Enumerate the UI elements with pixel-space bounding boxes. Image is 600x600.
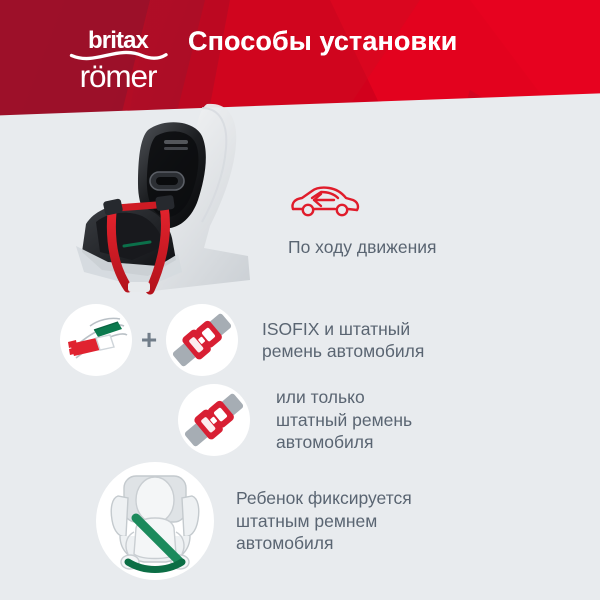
forward-facing-label: По ходу движения <box>288 237 578 259</box>
product-image <box>52 96 292 306</box>
row-child-belted-text: Ребенок фиксируется штатным ремнем автом… <box>236 487 412 554</box>
row-isofix-text: ISOFIX и штатный ремень автомобиля <box>262 318 424 363</box>
seatbelt-buckle-icon <box>166 304 238 376</box>
forward-facing-block: По ходу движения <box>288 183 578 259</box>
svg-text:römer: römer <box>80 58 157 92</box>
car-forward-icon <box>288 183 362 223</box>
row-isofix-icons: + <box>60 304 238 376</box>
brand-name-top: britax <box>58 92 59 93</box>
row-isofix: + ISOFIX и штатный ремень автомобиля <box>60 304 424 376</box>
row-belt-only-icons <box>178 384 250 456</box>
poster-stage: britax römer britax römer britax römer С… <box>0 0 600 600</box>
row-child-belted: Ребенок фиксируется штатным ремнем автом… <box>96 462 412 580</box>
row-child-belted-icons <box>96 462 214 580</box>
plus-icon: + <box>132 326 166 354</box>
svg-text:britax: britax <box>88 27 150 54</box>
row-belt-only-text: или только штатный ремень автомобиля <box>276 386 412 453</box>
brand-logo: britax römer britax römer britax römer <box>58 22 178 92</box>
brand-name-bottom: römer <box>58 92 59 93</box>
page-title: Способы установки <box>188 26 458 57</box>
isofix-connector-icon <box>60 304 132 376</box>
row-belt-only: или только штатный ремень автомобиля <box>178 384 412 456</box>
seatbelt-buckle-icon <box>178 384 250 456</box>
header: britax römer britax römer britax römer С… <box>0 0 600 100</box>
child-in-seat-belted-icon <box>96 462 214 580</box>
